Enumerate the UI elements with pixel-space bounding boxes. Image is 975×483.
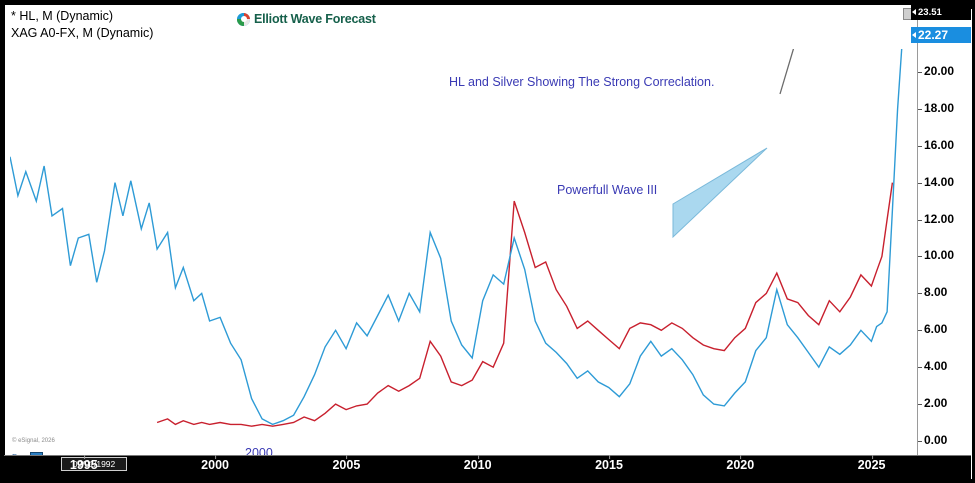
correlation-annotation: HL and Silver Showing The Strong Correcl… xyxy=(449,75,714,89)
elliott-wave-circle-logo-icon xyxy=(237,13,250,26)
last-quote-top-badge: 23.51 xyxy=(911,4,971,20)
time-axis[interactable]: 02/01/1992 1995200020052010201520202025 xyxy=(4,455,971,479)
brand-label: Elliott Wave Forecast xyxy=(254,12,376,26)
left-arrow-icon xyxy=(912,9,916,15)
elliott-wave-forecast-logo: Elliott Wave Forecast xyxy=(237,11,376,27)
symbol-label-secondary: XAG A0-FX, M (Dynamic) xyxy=(11,26,153,40)
symbol-label-primary: * HL, M (Dynamic) xyxy=(11,9,113,23)
price-series-svg xyxy=(10,49,916,432)
price-tick-label: 16.00 xyxy=(924,138,954,152)
time-tick: 2000 xyxy=(201,458,229,472)
last-price-value: 22.27 xyxy=(918,28,948,42)
time-tick: 2010 xyxy=(464,458,492,472)
wave-annotation: Powerfull Wave III xyxy=(557,183,657,197)
time-tick: 2005 xyxy=(332,458,360,472)
price-tick-label: 10.00 xyxy=(924,248,954,262)
left-arrow-icon xyxy=(912,32,916,38)
price-tick-label: 4.00 xyxy=(924,359,947,373)
projection-trendline xyxy=(780,49,797,94)
chart-screenshot: * HL, M (Dynamic) XAG A0-FX, M (Dynamic)… xyxy=(0,0,975,483)
price-tick-label: 0.00 xyxy=(924,433,947,447)
chart-header: * HL, M (Dynamic) XAG A0-FX, M (Dynamic)… xyxy=(5,5,970,49)
price-tick-label: 20.00 xyxy=(924,64,954,78)
price-tick-label: 18.00 xyxy=(924,101,954,115)
price-tick-label: 8.00 xyxy=(924,285,947,299)
powerful-wave-wedge-shape xyxy=(673,148,767,237)
time-tick: 1995 xyxy=(70,458,98,472)
time-tick: 2025 xyxy=(858,458,886,472)
chart-frame: * HL, M (Dynamic) XAG A0-FX, M (Dynamic)… xyxy=(4,4,971,479)
last-price-badge: 22.27 xyxy=(911,27,971,43)
hl-series-line xyxy=(10,49,908,424)
time-tick: 2020 xyxy=(726,458,754,472)
copyright-label: © eSignal, 2026 xyxy=(12,438,55,444)
price-tick-label: 6.00 xyxy=(924,322,947,336)
last-quote-top-value: 23.51 xyxy=(918,7,942,18)
price-tick-label: 14.00 xyxy=(924,175,954,189)
time-tick: 2015 xyxy=(595,458,623,472)
price-tick-label: 2.00 xyxy=(924,396,947,410)
silver-series-line xyxy=(157,183,892,427)
price-tick-label: 12.00 xyxy=(924,212,954,226)
plot-area xyxy=(10,49,916,432)
price-axis[interactable]: 22.0020.0018.0016.0014.0012.0010.008.006… xyxy=(917,9,972,479)
